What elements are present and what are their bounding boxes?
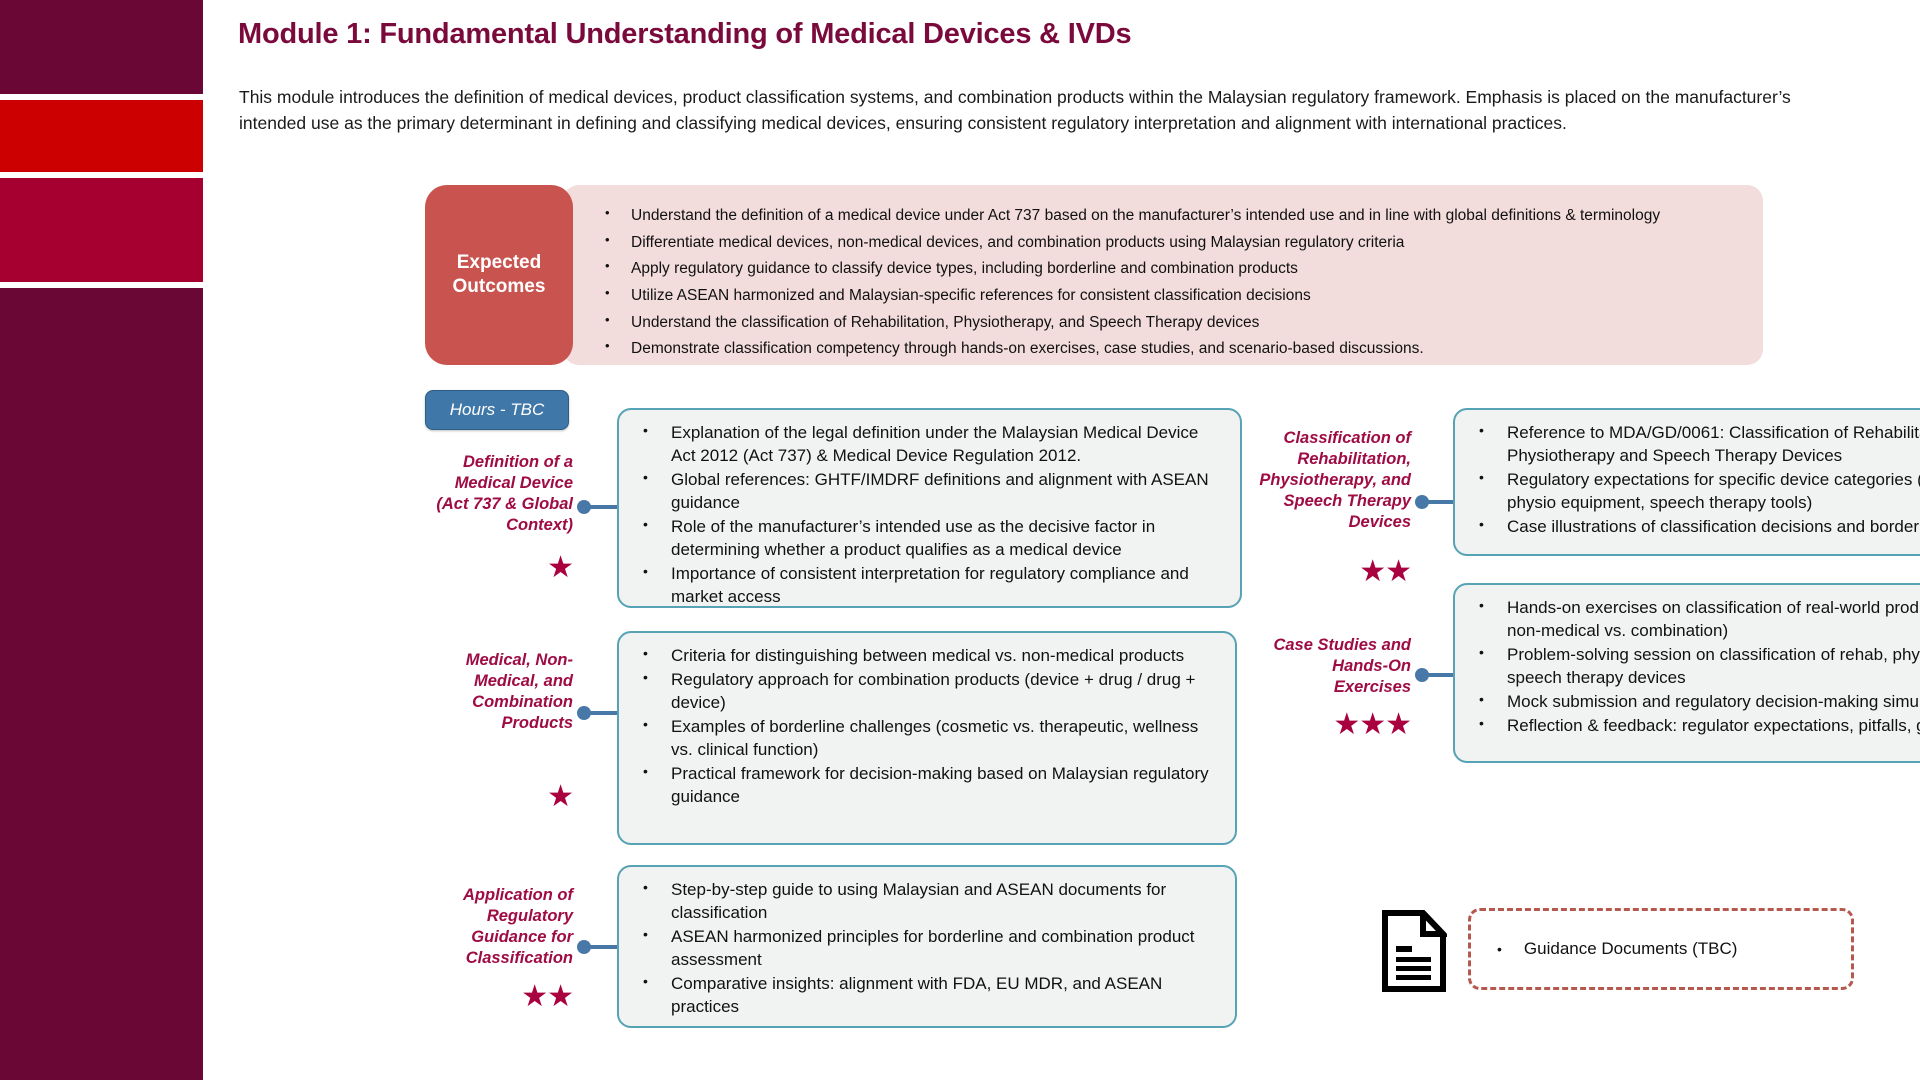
list-item: Explanation of the legal definition unde… bbox=[671, 422, 1222, 468]
topic-stars: ★★ bbox=[425, 982, 573, 1012]
sidebar-band-3 bbox=[0, 178, 203, 282]
topic-detail-list: Hands-on exercises on classification of … bbox=[1467, 597, 1920, 738]
topic-stars: ★ bbox=[425, 782, 573, 812]
sidebar-band-4 bbox=[0, 288, 203, 1080]
expected-outcomes-list: Understand the definition of a medical d… bbox=[603, 203, 1737, 363]
list-item: Regulatory approach for combination prod… bbox=[671, 669, 1217, 715]
topic-label: Medical, Non-Medical, and Combination Pr… bbox=[425, 650, 573, 734]
document-icon bbox=[1381, 910, 1447, 992]
list-item: Differentiate medical devices, non-medic… bbox=[631, 230, 1737, 257]
topic-label: Definition of a Medical Device (Act 737 … bbox=[425, 452, 573, 536]
topic-stars: ★★★ bbox=[1253, 710, 1411, 740]
list-item: Mock submission and regulatory decision-… bbox=[1507, 691, 1920, 714]
topic-label: Classification of Rehabilitation, Physio… bbox=[1253, 428, 1411, 533]
slide-content: Module 1: Fundamental Understanding of M… bbox=[203, 0, 1920, 1080]
intro-paragraph: This module introduces the definition of… bbox=[239, 85, 1839, 136]
expected-outcomes-badge: Expected Outcomes bbox=[425, 185, 573, 365]
list-item: Understand the definition of a medical d… bbox=[631, 203, 1737, 230]
list-item: Examples of borderline challenges (cosme… bbox=[671, 716, 1217, 762]
topic-detail-list: Step-by-step guide to using Malaysian an… bbox=[631, 879, 1217, 1019]
hours-badge[interactable]: Hours - TBC bbox=[425, 390, 569, 430]
list-item: Global references: GHTF/IMDRF definition… bbox=[671, 469, 1222, 515]
connector-line bbox=[587, 505, 619, 509]
list-item: Understand the classification of Rehabil… bbox=[631, 310, 1737, 337]
topic-label: Case Studies and Hands-On Exercises bbox=[1253, 635, 1411, 698]
topic-detail-list: Reference to MDA/GD/0061: Classification… bbox=[1467, 422, 1920, 539]
topic-detail-box: Hands-on exercises on classification of … bbox=[1453, 583, 1920, 763]
list-item: Importance of consistent interpretation … bbox=[671, 563, 1222, 609]
bullet-icon: • bbox=[1497, 941, 1502, 957]
sidebar-band-2 bbox=[0, 100, 203, 172]
connector-line bbox=[1425, 500, 1455, 504]
list-item: Criteria for distinguishing between medi… bbox=[671, 645, 1217, 668]
topic-detail-box: Reference to MDA/GD/0061: Classification… bbox=[1453, 408, 1920, 556]
list-item: Regulatory expectations for specific dev… bbox=[1507, 469, 1920, 515]
topic-detail-box: Explanation of the legal definition unde… bbox=[617, 408, 1242, 608]
connector-line bbox=[587, 711, 619, 715]
connector-line bbox=[1425, 673, 1455, 677]
list-item: Comparative insights: alignment with FDA… bbox=[671, 973, 1217, 1019]
expected-outcomes-panel: Understand the definition of a medical d… bbox=[563, 185, 1763, 365]
list-item: Reference to MDA/GD/0061: Classification… bbox=[1507, 422, 1920, 468]
list-item: Hands-on exercises on classification of … bbox=[1507, 597, 1920, 643]
decorative-sidebar bbox=[0, 0, 203, 1080]
list-item: Demonstrate classification competency th… bbox=[631, 336, 1737, 363]
connector-line bbox=[587, 945, 619, 949]
list-item: Problem-solving session on classificatio… bbox=[1507, 644, 1920, 690]
topic-detail-list: Explanation of the legal definition unde… bbox=[631, 422, 1222, 609]
page-title: Module 1: Fundamental Understanding of M… bbox=[238, 18, 1131, 51]
topic-label: Application of Regulatory Guidance for C… bbox=[425, 885, 573, 969]
expected-outcomes-section: Expected Outcomes Understand the definit… bbox=[425, 185, 1920, 375]
list-item: Step-by-step guide to using Malaysian an… bbox=[671, 879, 1217, 925]
list-item: Practical framework for decision-making … bbox=[671, 763, 1217, 809]
topic-detail-box: Criteria for distinguishing between medi… bbox=[617, 631, 1237, 845]
list-item: Reflection & feedback: regulator expecta… bbox=[1507, 715, 1920, 738]
list-item: Utilize ASEAN harmonized and Malaysian-s… bbox=[631, 283, 1737, 310]
topic-stars: ★ bbox=[425, 553, 573, 583]
topic-stars: ★★ bbox=[1253, 557, 1411, 587]
topic-detail-box: Step-by-step guide to using Malaysian an… bbox=[617, 865, 1237, 1028]
list-item: ASEAN harmonized principles for borderli… bbox=[671, 926, 1217, 972]
topic-detail-list: Criteria for distinguishing between medi… bbox=[631, 645, 1217, 809]
list-item: Apply regulatory guidance to classify de… bbox=[631, 256, 1737, 283]
guidance-documents-label: Guidance Documents (TBC) bbox=[1524, 939, 1738, 959]
list-item: Role of the manufacturer’s intended use … bbox=[671, 516, 1222, 562]
sidebar-band-1 bbox=[0, 0, 203, 94]
list-item: Case illustrations of classification dec… bbox=[1507, 516, 1920, 539]
guidance-documents-box: • Guidance Documents (TBC) bbox=[1468, 908, 1854, 990]
